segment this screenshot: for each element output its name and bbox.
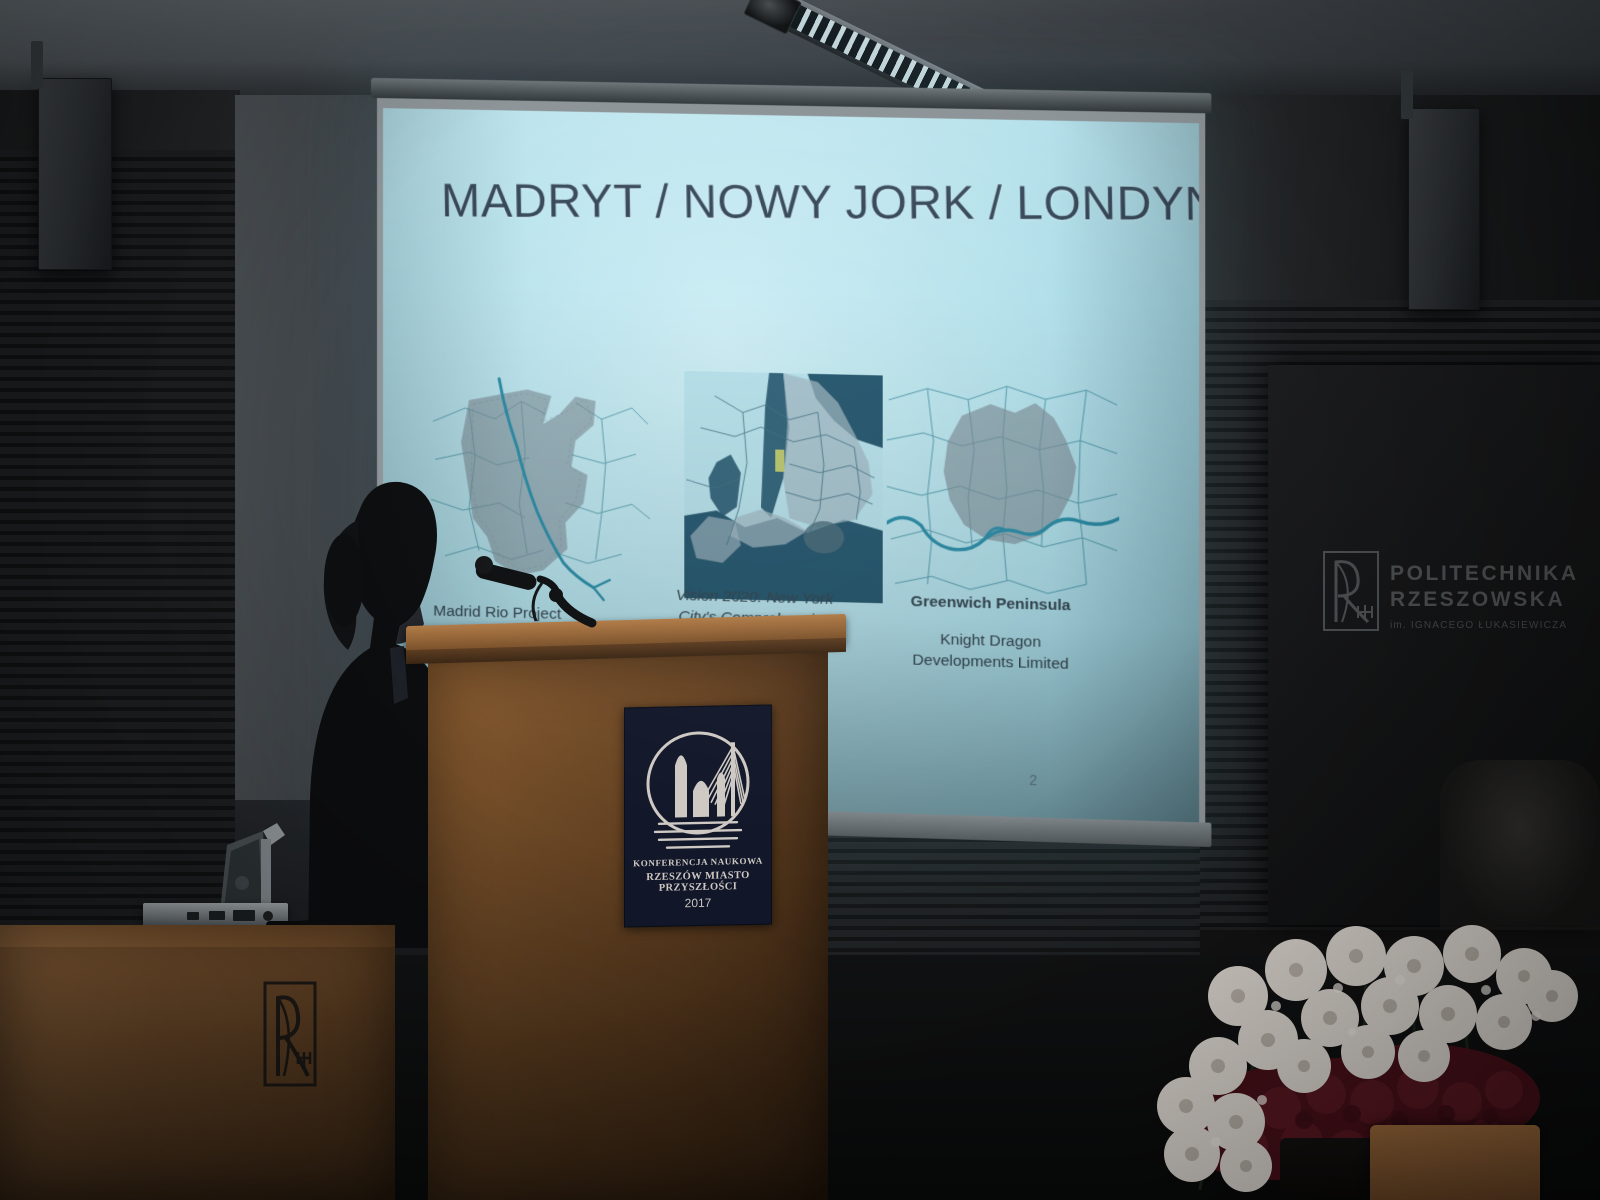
banner-text: POLITECHNIKA RZESZOWSKA im. IGNACEGO ŁUK… (1390, 561, 1600, 631)
sign-line-3: 2017 (625, 894, 771, 911)
conference-sign: KONFERENCJA NAUKOWA RZESZÓW MIASTO PRZYS… (624, 704, 772, 927)
london-map (887, 370, 1119, 616)
newyork-column (656, 364, 889, 609)
slide-page-number: 2 (1029, 772, 1037, 788)
new-york-map (656, 364, 887, 609)
banner-title-line-1: POLITECHNIKA (1390, 561, 1600, 587)
banner-title-line-2: RZESZOWSKA (1390, 587, 1600, 613)
politechnika-pr-monogram (1322, 550, 1380, 632)
banner-subtitle: im. IGNACEGO ŁUKASIEWICZA (1390, 620, 1600, 631)
conference-photo: MADRYT / NOWY JORK / LONDYN (0, 0, 1600, 1200)
wall-speaker-left (38, 78, 112, 270)
slide-title: MADRYT / NOWY JORK / LONDYN (441, 172, 1089, 230)
wall-speaker-right (1408, 108, 1480, 310)
london-caption: Greenwich Peninsula Knight Dragon Develo… (879, 591, 1103, 676)
microphone-icon (470, 555, 620, 645)
sign-line-2: RZESZÓW MIASTO PRZYSZŁOŚCI (625, 869, 771, 894)
politechnika-pr-monogram (262, 980, 318, 1088)
desk-shading (0, 947, 395, 1200)
sign-line-1: KONFERENCJA NAUKOWA (625, 855, 771, 868)
lectern: KONFERENCJA NAUKOWA RZESZÓW MIASTO PRZYS… (406, 620, 846, 1200)
acoustic-slats-left (0, 150, 235, 940)
conference-sign-text: KONFERENCJA NAUKOWA RZESZÓW MIASTO PRZYS… (625, 855, 771, 911)
rzeszow-bridge-logo (645, 720, 751, 854)
london-column (887, 370, 1121, 616)
chair (1370, 1125, 1540, 1200)
